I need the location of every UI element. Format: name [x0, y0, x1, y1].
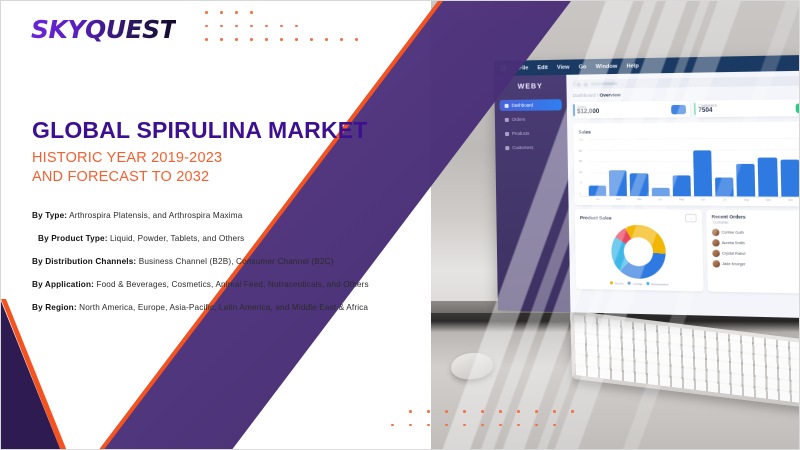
dot	[340, 38, 343, 41]
kpi-value: $12,000	[577, 109, 599, 115]
dot-row	[205, 11, 370, 14]
cart-icon	[505, 117, 509, 121]
dot	[391, 424, 394, 427]
sales-bar-chart: 100806040200	[579, 137, 800, 198]
kpi-row: Sales $12,000 Customers 7504	[573, 98, 800, 119]
legend-swatch	[628, 282, 631, 285]
skyquest-logo[interactable]: SKYQUEST	[31, 15, 176, 44]
dot	[220, 25, 223, 28]
segment-label: By Distribution Channels:	[32, 257, 136, 266]
chart-y-axis: 100806040200	[579, 139, 589, 196]
table-row[interactable]: Jade KruegerSamsung Galaxy S22 Ultra	[712, 259, 800, 274]
segment-item: By Application: Food & Beverages, Cosmet…	[32, 280, 427, 290]
users-icon	[796, 103, 800, 113]
x-tick-label: Aug	[737, 199, 756, 202]
legend-swatch	[610, 281, 613, 284]
chart-bar	[630, 173, 648, 196]
dot	[481, 410, 484, 413]
dot	[325, 38, 328, 41]
x-tick-label: Jul	[715, 198, 733, 201]
chart-bar	[780, 160, 800, 197]
recent-orders-table: Customer Product Corrine GuthiPhone 12 P…	[712, 219, 800, 273]
lower-row: Product Sales ... MobileLaptopAccessorie…	[575, 209, 800, 296]
segment-label: By Product Type:	[38, 234, 108, 243]
x-tick-label: Jun	[694, 198, 712, 201]
sales-panel-title: Sales	[578, 129, 590, 134]
sidebar-item-label: Orders	[512, 117, 525, 122]
subtitle-line-1: HISTORIC YEAR 2019-2023	[32, 149, 222, 168]
dot	[517, 424, 520, 427]
dot	[205, 25, 208, 28]
dot	[295, 38, 298, 41]
x-tick-label: Jan	[589, 198, 607, 201]
segment-value: Food & Beverages, Cosmetics, Animal Feed…	[94, 280, 369, 289]
user-icon	[505, 146, 509, 150]
dashboard-content: Dashboard / Overview Sales $12,000	[566, 68, 800, 322]
dot	[409, 424, 412, 427]
segment-label: By Type:	[32, 211, 67, 220]
product-sales-panel: Product Sales ... MobileLaptopAccessorie…	[575, 209, 704, 291]
menu-item-go[interactable]: Go	[579, 64, 587, 70]
segment-list: By Type: Arthrospira Platensis, and Arth…	[32, 211, 427, 326]
subtitle-line-2: AND FORECAST TO 2032	[32, 168, 222, 187]
segment-label: By Application:	[32, 280, 94, 289]
x-tick-label: Sep	[759, 199, 778, 202]
dot	[250, 11, 253, 14]
dot	[463, 424, 466, 427]
segment-value: Liquid, Powder, Tablets, and Others	[108, 234, 245, 243]
dot	[280, 25, 283, 28]
dot	[571, 410, 574, 413]
sidebar-logo: WEBY	[494, 83, 566, 91]
donut-panel-header: Product Sales ...	[580, 213, 697, 222]
dashboard-topbar[interactable]	[572, 74, 800, 89]
y-tick-label: 80	[579, 149, 588, 152]
dot	[250, 38, 253, 41]
dot	[205, 38, 208, 41]
sidebar-item-label: Customers	[512, 145, 533, 150]
dashboard-sidebar: WEBY Dashboard Orders Products	[494, 75, 570, 313]
app-logo-icon	[500, 65, 507, 72]
dot	[535, 410, 538, 413]
chart-icon	[671, 104, 686, 113]
dot	[250, 25, 253, 28]
dot	[235, 38, 238, 41]
segment-value: Business Channel (B2B), Consumer Channel…	[136, 257, 333, 266]
donut-chart	[611, 225, 666, 280]
x-tick-label: Apr	[651, 198, 669, 201]
dot	[235, 11, 238, 14]
dot	[355, 38, 358, 41]
menu-item-window[interactable]: Window	[596, 63, 618, 70]
breadcrumb: Dashboard / Overview	[573, 88, 800, 98]
segment-item: By Type: Arthrospira Platensis, and Arth…	[32, 211, 427, 221]
dot	[517, 410, 520, 413]
dot-pattern-top	[205, 11, 370, 52]
dot	[499, 410, 502, 413]
avatar	[713, 260, 721, 267]
legend-item: Accessories	[646, 282, 668, 287]
dot	[235, 25, 238, 28]
menu-item-edit[interactable]: Edit	[537, 64, 548, 70]
y-tick-label: 40	[579, 171, 588, 174]
search-input[interactable]	[591, 82, 618, 85]
dot-pattern-bottom	[409, 410, 589, 437]
dot	[481, 424, 484, 427]
dashboard-screen: File Edit View Go Window Help 100% WEBY …	[494, 52, 800, 322]
breadcrumb-parent[interactable]: Dashboard /	[573, 93, 599, 98]
segment-item: By Distribution Channels: Business Chann…	[32, 257, 427, 267]
dot-row	[409, 410, 589, 413]
x-tick-label: Feb	[610, 198, 628, 201]
segment-item: By Region: North America, Europe, Asia-P…	[32, 303, 427, 313]
chart-x-axis: JanFebMarAprMayJunJulAugSepOctNovDec	[580, 198, 800, 202]
order-customer: Jade Krueger	[712, 259, 800, 271]
y-tick-label: 0	[580, 193, 589, 196]
sidebar-item-label: Products	[512, 131, 529, 136]
dot	[409, 410, 412, 413]
page-title: GLOBAL SPIRULINA MARKET	[32, 117, 368, 144]
grid-icon	[505, 103, 509, 107]
chart-bar	[609, 170, 627, 196]
dot-row	[391, 424, 589, 427]
legend-item: Laptop	[628, 282, 642, 286]
donut-panel-title: Product Sales	[580, 215, 612, 220]
menu-item-file[interactable]: File	[519, 65, 529, 71]
dot-row	[205, 25, 370, 28]
donut-menu-button[interactable]: ...	[685, 214, 697, 222]
legend-swatch	[646, 282, 649, 285]
avatar	[712, 250, 720, 257]
segment-label: By Region:	[32, 303, 77, 312]
recent-orders-panel: Recent Orders Customer Product Corrine G…	[706, 210, 800, 297]
kpi-card-customers: Customers 7504	[694, 99, 800, 117]
segment-item: By Product Type: Liquid, Powder, Tablets…	[38, 234, 427, 244]
dot	[220, 11, 223, 14]
kpi-value: 7504	[698, 108, 712, 114]
y-tick-label: 60	[579, 160, 588, 163]
page-subtitle: HISTORIC YEAR 2019-2023 AND FORECAST TO …	[32, 149, 222, 187]
dot	[445, 410, 448, 413]
dot	[445, 424, 448, 427]
sales-chart-panel: Sales This Year 100806040200 JanFebMarAp…	[573, 121, 800, 206]
dot	[265, 25, 268, 28]
sidebar-item-products[interactable]: Products	[500, 128, 562, 140]
dot	[265, 38, 268, 41]
dashboard-body: WEBY Dashboard Orders Products	[494, 68, 800, 322]
chart-bar	[589, 186, 607, 196]
breadcrumb-current: Overview	[600, 92, 621, 97]
sidebar-item-dashboard[interactable]: Dashboard	[500, 99, 562, 111]
dot	[553, 424, 556, 427]
box-icon	[505, 132, 509, 136]
y-tick-label: 20	[579, 182, 588, 185]
legend-item: Mobile	[610, 281, 624, 285]
sidebar-item-orders[interactable]: Orders	[500, 113, 562, 125]
avatar	[712, 228, 720, 235]
recent-orders-title: Recent Orders	[712, 214, 746, 220]
sales-panel-header: Sales This Year	[578, 125, 800, 135]
chart-bar	[672, 175, 691, 196]
segment-value: North America, Europe, Asia-Pacific, Lat…	[77, 303, 368, 312]
x-tick-label: Mar	[630, 198, 648, 201]
donut-legend: MobileLaptopAccessories	[581, 281, 698, 287]
menu-item-help[interactable]: Help	[626, 63, 638, 69]
poster-canvas: File Edit View Go Window Help 100% WEBY …	[0, 0, 800, 450]
dot	[463, 410, 466, 413]
segment-value: Arthrospira Platensis, and Arthrospira M…	[67, 211, 242, 220]
recent-orders-body: Corrine GuthiPhone 12 ProAurelia SmithRe…	[712, 227, 800, 274]
dot	[535, 424, 538, 427]
menu-item-view[interactable]: View	[557, 64, 570, 70]
chart-bar	[758, 158, 778, 197]
dot-row	[205, 38, 370, 41]
workspace-photo: File Edit View Go Window Help 100% WEBY …	[431, 1, 800, 450]
dot	[310, 38, 313, 41]
dot	[295, 25, 298, 28]
dot	[427, 424, 430, 427]
dot	[499, 424, 502, 427]
forward-icon[interactable]	[584, 82, 588, 86]
dot	[280, 38, 283, 41]
chart-bar	[693, 150, 712, 196]
dot	[553, 410, 556, 413]
sidebar-item-label: Dashboard	[512, 103, 534, 108]
chart-bar	[736, 164, 755, 196]
chart-bar	[715, 178, 734, 197]
avatar	[712, 239, 720, 246]
x-tick-label: May	[673, 198, 691, 201]
mid-row: Sales This Year 100806040200 JanFebMarAp…	[573, 120, 800, 207]
kpi-card-sales: Sales $12,000	[573, 101, 690, 119]
sidebar-item-customers[interactable]: Customers	[500, 142, 562, 153]
x-tick-label: Oct	[781, 199, 800, 202]
dot	[220, 38, 223, 41]
dot	[427, 410, 430, 413]
back-icon[interactable]	[577, 82, 581, 86]
y-tick-label: 100	[579, 139, 588, 142]
dot	[205, 11, 208, 14]
chart-bar	[651, 188, 669, 196]
